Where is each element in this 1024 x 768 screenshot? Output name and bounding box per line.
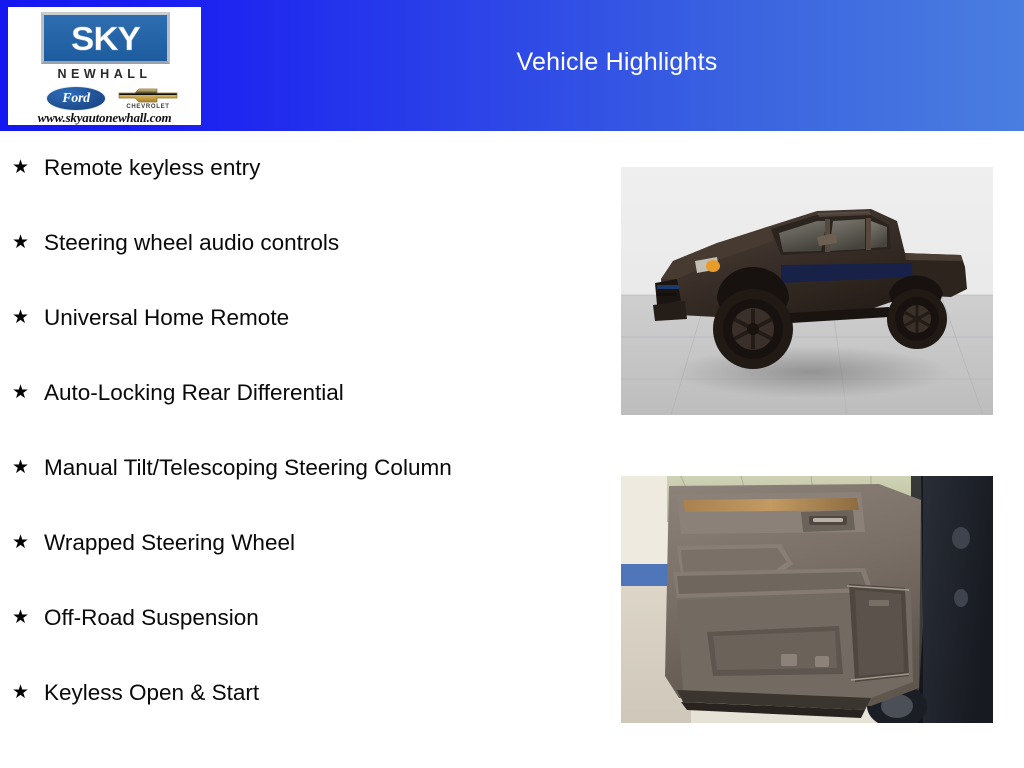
star-bullet-icon: ★ xyxy=(12,153,44,183)
dealer-website-text: www.skyautonewhall.com xyxy=(8,110,201,125)
list-item-label: Remote keyless entry xyxy=(44,153,484,183)
dealer-location-text: NEWHALL xyxy=(8,67,201,81)
vehicle-exterior-photo[interactable] xyxy=(621,167,993,415)
list-item-label: Keyless Open & Start xyxy=(44,678,484,708)
star-bullet-icon: ★ xyxy=(12,228,44,258)
dealer-logo[interactable]: SKY NEWHALL Ford xyxy=(8,7,201,125)
list-item-label: Off-Road Suspension xyxy=(44,603,484,633)
list-item: ★ Off-Road Suspension xyxy=(0,603,600,678)
list-item: ★ Remote keyless entry xyxy=(0,153,600,228)
chevrolet-bowtie-shape xyxy=(117,87,179,104)
vehicle-highlights-list: ★ Remote keyless entry ★ Steering wheel … xyxy=(0,131,600,753)
star-bullet-icon: ★ xyxy=(12,528,44,558)
list-item-label: Auto-Locking Rear Differential xyxy=(44,378,484,408)
star-bullet-icon: ★ xyxy=(12,378,44,408)
list-item-label: Steering wheel audio controls xyxy=(44,228,484,258)
sky-brand-text: SKY xyxy=(71,22,140,55)
list-item-label: Universal Home Remote xyxy=(44,303,484,333)
sky-brand-plate: SKY xyxy=(41,12,170,64)
vehicle-interior-door-photo[interactable] xyxy=(621,476,993,723)
list-item: ★ Wrapped Steering Wheel xyxy=(0,528,600,603)
dealer-logo-inner: SKY NEWHALL Ford xyxy=(8,7,201,125)
list-item: ★ Keyless Open & Start xyxy=(0,678,600,753)
list-item: ★ Auto-Locking Rear Differential xyxy=(0,378,600,453)
slide: Vehicle Highlights SKY NEWHALL Ford xyxy=(0,0,1024,768)
exterior-photo-graphic xyxy=(621,167,993,415)
star-bullet-icon: ★ xyxy=(12,678,44,708)
interior-photo-graphic xyxy=(621,476,993,723)
list-item-label: Manual Tilt/Telescoping Steering Column xyxy=(44,453,484,483)
list-item: ★ Universal Home Remote xyxy=(0,303,600,378)
ford-logo-icon: Ford xyxy=(46,86,106,111)
chevrolet-logo-icon: CHEVROLET xyxy=(117,85,179,113)
star-bullet-icon: ★ xyxy=(12,303,44,333)
star-bullet-icon: ★ xyxy=(12,603,44,633)
list-item: ★ Manual Tilt/Telescoping Steering Colum… xyxy=(0,453,600,528)
list-item-label: Wrapped Steering Wheel xyxy=(44,528,484,558)
list-item: ★ Steering wheel audio controls xyxy=(0,228,600,303)
star-bullet-icon: ★ xyxy=(12,453,44,483)
ford-logo-text: Ford xyxy=(62,91,90,107)
page-title: Vehicle Highlights xyxy=(210,0,1024,131)
